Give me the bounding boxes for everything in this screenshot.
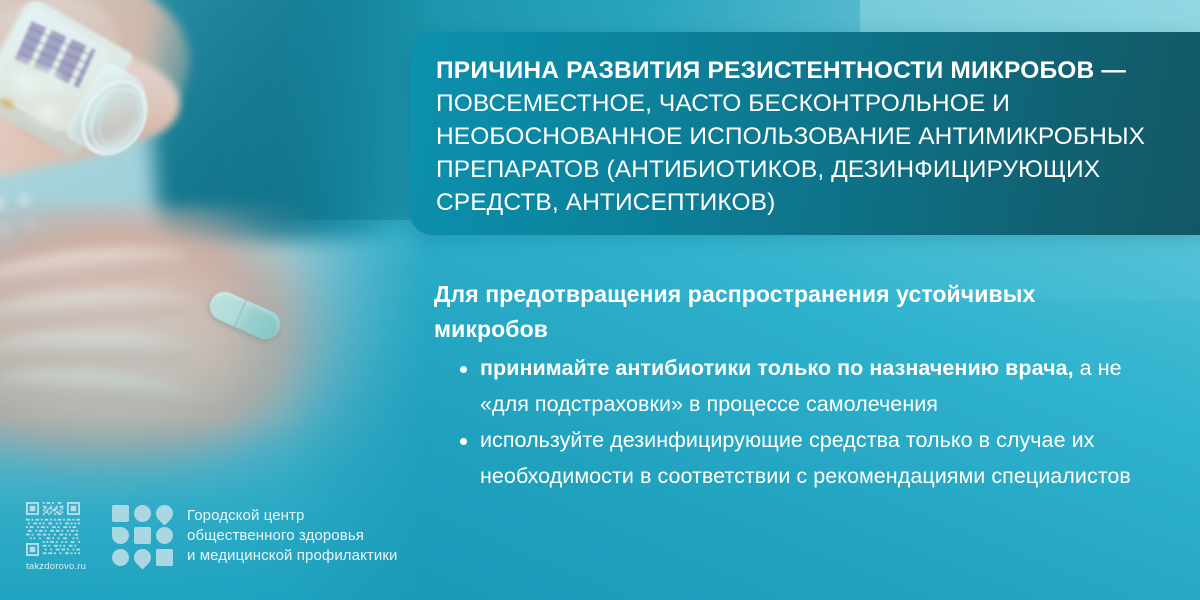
logo-tile-square xyxy=(134,527,151,544)
recommendations-list: принимайте антибиотики только по назначе… xyxy=(434,351,1134,494)
bullet-dot-icon xyxy=(460,366,467,373)
headline-lead: ПРИЧИНА РАЗВИТИЯ РЕЗИСТЕНТНОСТИ МИКРОБОВ… xyxy=(436,57,1126,84)
brand-line: общественного здоровья xyxy=(187,526,398,546)
logo-tile-circle xyxy=(112,549,129,566)
qr-caption: takzdorovo.ru xyxy=(26,561,82,572)
footer: takzdorovo.ru Городской центр общественн… xyxy=(26,502,398,572)
brand-name: Городской центр общественного здоровья и… xyxy=(187,506,398,566)
list-item: используйте дезинфицирующие средства тол… xyxy=(460,423,1134,494)
recommendations-title: Для предотвращения распространения устой… xyxy=(434,277,1094,347)
poster-root: ПРИЧИНА РАЗВИТИЯ РЕЗИСТЕНТНОСТИ МИКРОБОВ… xyxy=(0,0,1200,600)
logo-tile-circle xyxy=(134,505,151,522)
qr-block[interactable]: takzdorovo.ru xyxy=(26,502,82,572)
logo-tile-square xyxy=(112,505,129,522)
logo-tile-leaf xyxy=(130,545,154,569)
headline-text: ПРИЧИНА РАЗВИТИЯ РЕЗИСТЕНТНОСТИ МИКРОБОВ… xyxy=(436,54,1172,219)
recommendations-block: Для предотвращения распространения устой… xyxy=(434,277,1134,495)
list-item-text: используйте дезинфицирующие средства тол… xyxy=(480,428,1131,488)
qr-code-icon[interactable] xyxy=(26,502,80,556)
bullet-dot-icon xyxy=(460,438,467,445)
logo-mark-icon xyxy=(112,505,173,566)
headline-rest: ПОВСЕМЕСТНОЕ, ЧАСТО БЕСКОНТРОЛЬНОЕ И НЕО… xyxy=(436,90,1145,216)
brand-line: и медицинской профилактики xyxy=(187,546,398,566)
brand-logo: Городской центр общественного здоровья и… xyxy=(112,505,398,566)
logo-tile-square xyxy=(156,549,173,566)
list-item-emphasis: принимайте антибиотики только по назначе… xyxy=(480,356,1074,380)
logo-tile-leaf xyxy=(112,527,129,544)
brand-line: Городской центр xyxy=(187,506,398,526)
logo-tile-leaf xyxy=(152,501,176,525)
logo-tile-circle xyxy=(156,527,173,544)
headline-card: ПРИЧИНА РАЗВИТИЯ РЕЗИСТЕНТНОСТИ МИКРОБОВ… xyxy=(410,32,1200,235)
list-item: принимайте антибиотики только по назначе… xyxy=(460,351,1134,422)
